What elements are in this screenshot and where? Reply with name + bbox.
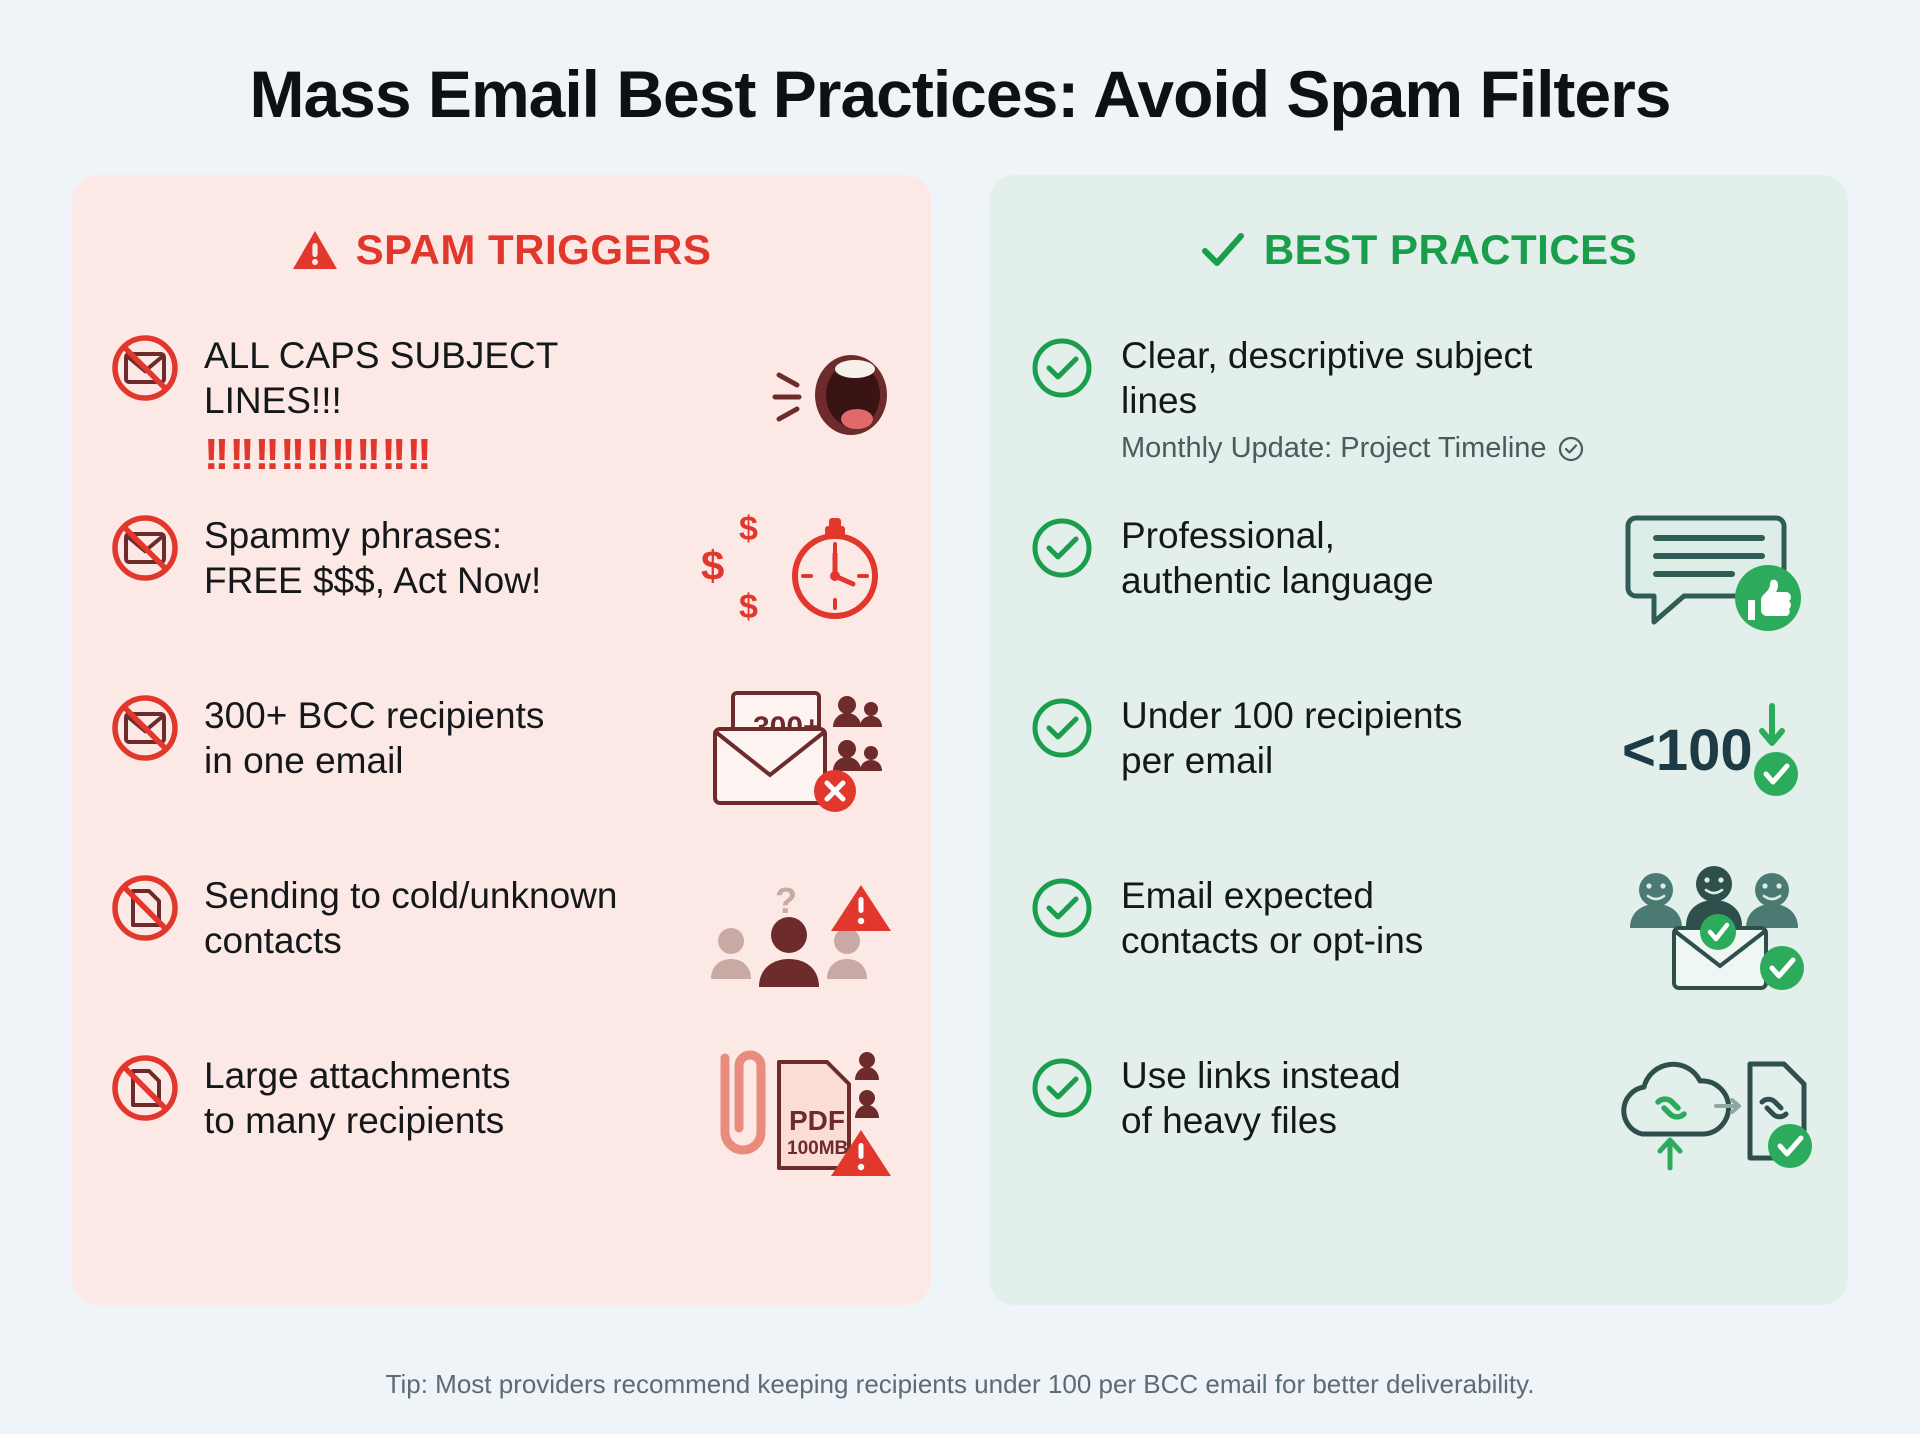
pdf-attachment-warning-icon: PDF 100MB [665,1047,895,1179]
list-item: ALL CAPS SUBJECT LINES!!! !! !! !! !! !!… [108,319,895,499]
list-item-text: 300+ BCC recipients in one email [204,687,643,783]
exclamation-pair: !! [381,433,402,477]
no-email-icon [108,331,182,405]
list-item-text: Use links instead of heavy files [1121,1047,1560,1143]
list-item-subtext-row: Monthly Update: Project Timeline [1121,431,1600,466]
exclamation-pair: !! [204,433,225,477]
under-100-label: <100 [1622,718,1753,783]
list-item-label-line1: Professional, [1121,513,1560,558]
check-circle-icon [1025,691,1099,765]
dollar-signs-stopwatch-icon: $ $ $ [665,507,895,639]
list-item-label: ALL CAPS SUBJECT LINES!!! [204,333,683,423]
no-document-icon [108,871,182,945]
people-envelope-check-icon [1582,867,1812,999]
list-item-label-line2: to many recipients [204,1098,643,1143]
best-practices-heading: BEST PRACTICES [1025,215,1812,285]
envelope-300plus-people-x-icon: 300+ [665,687,895,819]
check-circle-small-icon [1557,435,1585,463]
list-item: Sending to cold/unknown contacts [108,859,895,1039]
list-item-label-line2: of heavy files [1121,1098,1560,1143]
list-item-label-line1: Use links instead [1121,1053,1560,1098]
list-item: Large attachments to many recipients PDF… [108,1039,895,1205]
list-item-label-line1: Sending to cold/unknown [204,873,643,918]
exclamation-pair: !! [331,433,352,477]
cloud-link-file-check-icon [1582,1047,1812,1179]
unknown-contacts-warning-icon: ? [665,867,895,999]
panels-container: SPAM TRIGGERS ALL CAPS SUBJECT LINE [72,175,1848,1305]
exclamation-pair: !! [356,433,377,477]
list-item-label-line1: Under 100 recipients [1121,693,1560,738]
shouting-mouth-icon [705,327,895,459]
list-item-label-line2: contacts or opt-ins [1121,918,1560,963]
spam-triggers-list: ALL CAPS SUBJECT LINES!!! !! !! !! !! !!… [108,319,895,1205]
list-item-text: ALL CAPS SUBJECT LINES!!! !! !! !! !! !!… [204,327,683,477]
list-item-text: Professional, authentic language [1121,507,1560,603]
list-item-label-line1: Large attachments [204,1053,643,1098]
best-practices-heading-label: BEST PRACTICES [1264,226,1637,274]
best-practices-panel: BEST PRACTICES Clear, descriptive subjec… [989,175,1848,1305]
exclamation-marks-row: !! !! !! !! !! !! !! !! !! [204,433,683,477]
list-item-label-line1: Spammy phrases: [204,513,643,558]
list-item-label-line1: Email expected [1121,873,1560,918]
no-document-icon [108,1051,182,1125]
list-item-text: Sending to cold/unknown contacts [204,867,643,963]
list-item-text: Email expected contacts or opt-ins [1121,867,1560,963]
list-item-text: Clear, descriptive subject lines Monthly… [1121,327,1600,467]
list-item: Professional, authentic language [1025,499,1812,679]
check-circle-icon [1025,331,1099,405]
infographic-page: Mass Email Best Practices: Avoid Spam Fi… [0,0,1920,1434]
list-item-label-line2: FREE $$$, Act Now! [204,558,643,603]
no-email-icon [108,691,182,765]
check-circle-icon [1025,871,1099,945]
check-circle-icon [1025,511,1099,585]
list-item: Under 100 recipients per email <100 [1025,679,1812,859]
page-title: Mass Email Best Practices: Avoid Spam Fi… [72,0,1848,131]
list-item-label-line2: authentic language [1121,558,1560,603]
list-item-label-line2: contacts [204,918,643,963]
exclamation-pair: !! [305,433,326,477]
check-icon [1200,230,1246,270]
no-email-icon [108,511,182,585]
list-item: Email expected contacts or opt-ins [1025,859,1812,1039]
footer-tip: Tip: Most providers recommend keeping re… [0,1369,1920,1400]
list-item-label-line2: per email [1121,738,1560,783]
chat-thumbs-up-icon [1582,507,1812,639]
file-size-label: 100MB [787,1138,848,1159]
spam-triggers-heading-label: SPAM TRIGGERS [356,226,712,274]
spam-triggers-panel: SPAM TRIGGERS ALL CAPS SUBJECT LINE [72,175,931,1305]
spam-triggers-heading: SPAM TRIGGERS [108,215,895,285]
list-item-label-line1: 300+ BCC recipients [204,693,643,738]
svg-text:$: $ [701,542,724,589]
list-item-art-empty [1622,327,1812,459]
list-item-text: Spammy phrases: FREE $$$, Act Now! [204,507,643,603]
check-circle-icon [1025,1051,1099,1125]
svg-text:$: $ [739,588,758,626]
exclamation-pair: !! [229,433,250,477]
list-item-text: Under 100 recipients per email [1121,687,1560,783]
best-practices-list: Clear, descriptive subject lines Monthly… [1025,319,1812,1205]
svg-text:$: $ [739,510,758,548]
warning-triangle-icon [292,229,338,271]
list-item-label-line2: in one email [204,738,643,783]
under-100-arrow-check-icon: <100 [1582,687,1812,819]
question-mark-label: ? [775,880,797,921]
list-item: Use links instead of heavy files [1025,1039,1812,1205]
list-item: Clear, descriptive subject lines Monthly… [1025,319,1812,499]
exclamation-pair: !! [255,433,276,477]
list-item-text: Large attachments to many recipients [204,1047,643,1143]
list-item-label: Clear, descriptive subject lines [1121,333,1600,423]
list-item-subtext: Monthly Update: Project Timeline [1121,431,1547,466]
list-item: Spammy phrases: FREE $$$, Act Now! $ $ $ [108,499,895,679]
exclamation-pair: !! [280,433,301,477]
list-item: 300+ BCC recipients in one email 300+ [108,679,895,859]
exclamation-pair: !! [407,433,428,477]
pdf-label: PDF [789,1105,845,1136]
